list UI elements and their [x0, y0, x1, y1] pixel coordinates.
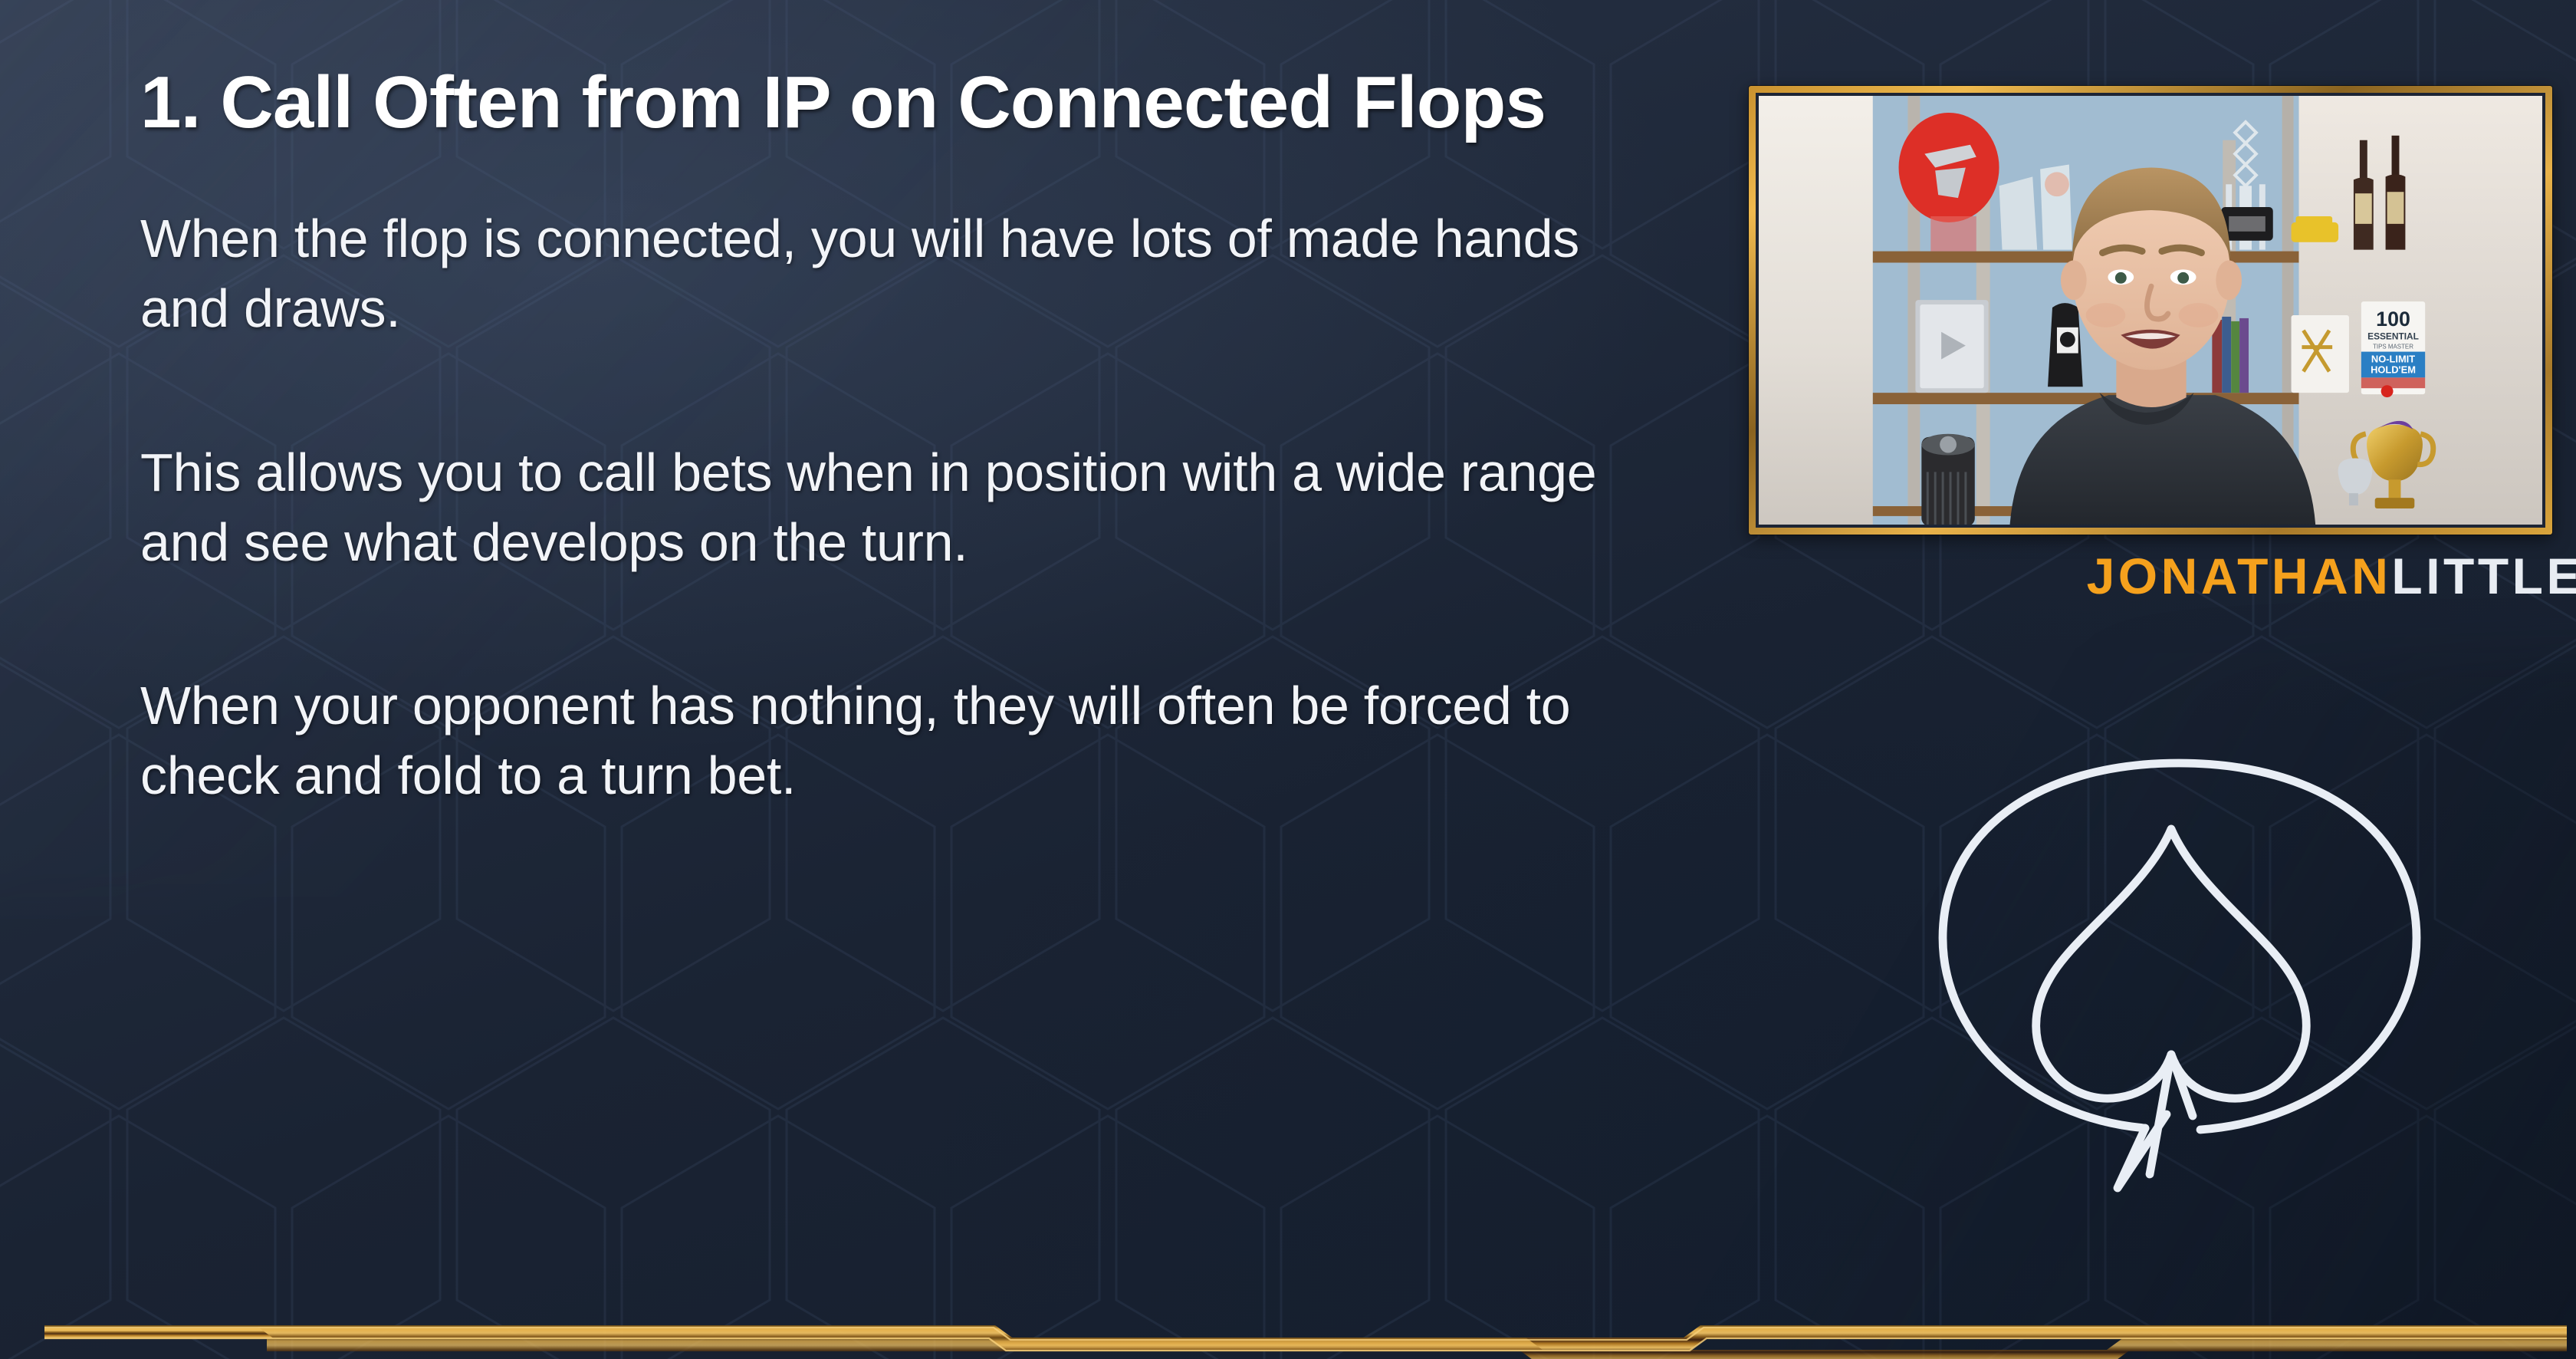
- webcam-scene: 100 ESSENTIAL TIPS MASTER NO-LIMIT HOLD'…: [1759, 96, 2542, 525]
- slide-text-column: 1. Call Often from IP on Connected Flops…: [140, 55, 1689, 811]
- page-title: 1. Call Often from IP on Connected Flops: [140, 55, 1689, 150]
- body-paragraph-2: This allows you to call bets when in pos…: [140, 438, 1681, 577]
- presentation-slide: 1. Call Often from IP on Connected Flops…: [0, 0, 2576, 1359]
- svg-text:NO-LIMIT: NO-LIMIT: [2371, 353, 2415, 364]
- body-paragraph-1: When the flop is connected, you will hav…: [140, 204, 1681, 344]
- svg-text:ESSENTIAL: ESSENTIAL: [2367, 331, 2419, 342]
- svg-text:100: 100: [2376, 308, 2410, 331]
- svg-text:HOLD'EM: HOLD'EM: [2371, 364, 2416, 375]
- slide-body: When the flop is connected, you will hav…: [140, 204, 1689, 811]
- spade-ring-logo: [1915, 748, 2444, 1208]
- presenter-webcam[interactable]: 100 ESSENTIAL TIPS MASTER NO-LIMIT HOLD'…: [1749, 86, 2552, 535]
- brand-first-name: JONATHAN: [2087, 548, 2392, 604]
- brand-wordmark: JONATHANLITTLE: [1963, 547, 2576, 605]
- brand-last-name: LITTLE: [2391, 548, 2576, 604]
- decorative-gold-rule: [0, 1304, 2576, 1359]
- webcam-video-surface: 100 ESSENTIAL TIPS MASTER NO-LIMIT HOLD'…: [1756, 93, 2545, 528]
- body-paragraph-3: When your opponent has nothing, they wil…: [140, 671, 1681, 811]
- svg-text:TIPS MASTER: TIPS MASTER: [2373, 344, 2413, 350]
